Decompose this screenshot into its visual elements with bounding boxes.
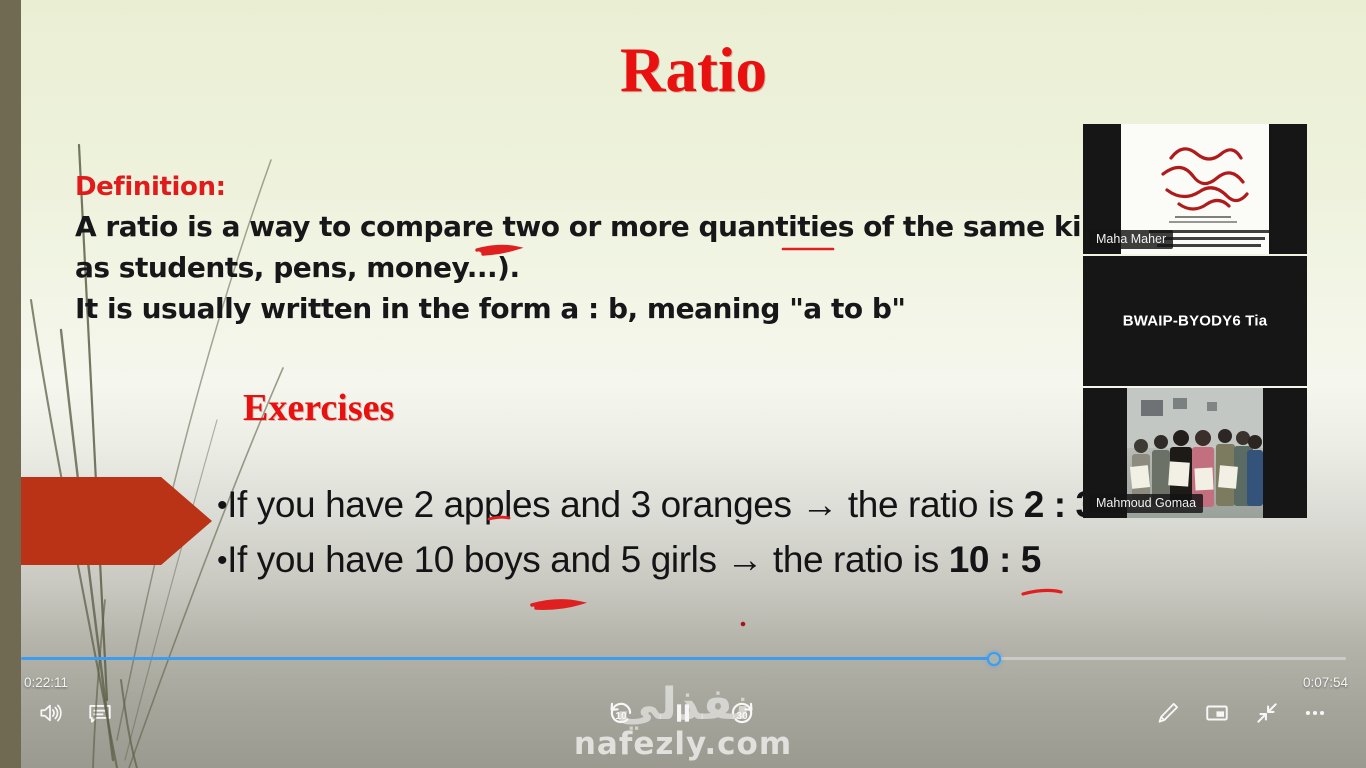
list-item: •If you have 2 apples and 3 oranges → th… bbox=[217, 478, 1096, 533]
definition-heading: Definition: bbox=[75, 172, 1135, 202]
exercises-heading: Exercises bbox=[243, 386, 394, 430]
participant-tile-strip: Maha Maher BWAIP-BYODY6 Tia bbox=[1083, 124, 1307, 520]
red-arrow-banner bbox=[21, 477, 212, 565]
exercise-bullet-list: •If you have 2 apples and 3 oranges → th… bbox=[217, 478, 1096, 588]
participant-name: Maha Maher bbox=[1089, 230, 1173, 249]
bullet-emphasis: 10 : 5 bbox=[949, 539, 1041, 580]
bullet-marker: • bbox=[217, 544, 227, 577]
definition-line-3: It is usually written in the form a : b,… bbox=[75, 288, 1135, 329]
participant-tile[interactable]: BWAIP-BYODY6 Tia bbox=[1083, 256, 1307, 386]
bullet-text: If you have 10 boys and 5 girls → the ra… bbox=[227, 539, 949, 580]
progress-bar[interactable] bbox=[21, 657, 1346, 660]
participant-name: BWAIP-BYODY6 Tia bbox=[1083, 313, 1307, 330]
player-controls: 0:22:11 0:07:54 bbox=[0, 646, 1366, 768]
remaining-time: 0:07:54 bbox=[1303, 675, 1348, 690]
bullet-marker: • bbox=[217, 489, 227, 522]
definition-line-2: as students, pens, money...). bbox=[75, 247, 1135, 288]
participant-tile[interactable]: Maha Maher bbox=[1083, 124, 1307, 254]
list-item: •If you have 10 boys and 5 girls → the r… bbox=[217, 533, 1096, 588]
progress-handle[interactable] bbox=[987, 652, 1001, 666]
definition-line-1: A ratio is a way to compare two or more … bbox=[75, 206, 1135, 247]
participant-tile[interactable]: Mahmoud Gomaa bbox=[1083, 388, 1307, 518]
definition-block: Definition: A ratio is a way to compare … bbox=[75, 172, 1135, 329]
slide-title: Ratio bbox=[21, 34, 1366, 107]
video-player[interactable]: Ratio Definition: A ratio is a way to co… bbox=[0, 0, 1366, 768]
progress-fill bbox=[21, 657, 994, 660]
elapsed-time: 0:22:11 bbox=[24, 675, 68, 690]
bullet-text: If you have 2 apples and 3 oranges → the… bbox=[227, 484, 1024, 525]
participant-name: Mahmoud Gomaa bbox=[1089, 494, 1203, 513]
